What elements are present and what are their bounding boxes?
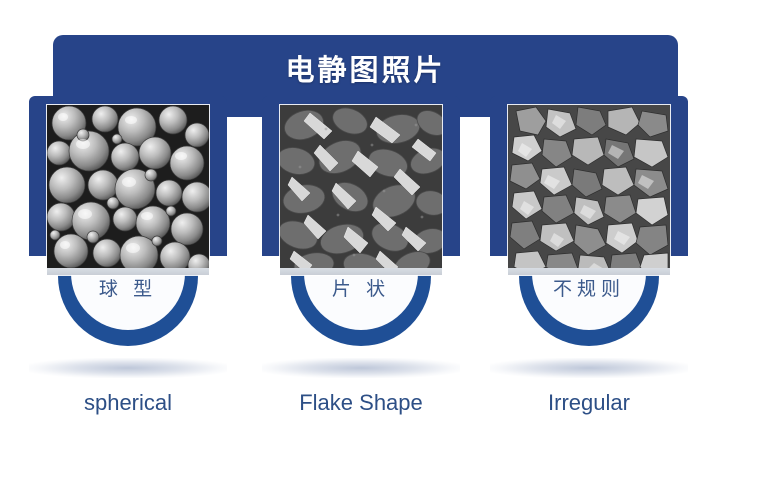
sem-image-flake — [280, 105, 442, 275]
panel-shadow — [29, 358, 227, 378]
sem-irregular-icon — [508, 105, 670, 275]
sem-image-spherical — [47, 105, 209, 275]
sem-flake-icon — [280, 105, 442, 275]
cn-label-spherical: 球 型 — [29, 274, 227, 301]
en-label-spherical: spherical — [13, 390, 243, 416]
panel-shadow — [490, 358, 688, 378]
en-label-flake: Flake Shape — [246, 390, 476, 416]
sem-image-irregular — [508, 105, 670, 275]
infographic-stage: 电静图照片 — [0, 0, 774, 480]
cn-label-flake: 片 状 — [262, 274, 460, 301]
banner-title: 电静图照片 — [53, 35, 678, 100]
morphology-card-irregular[interactable]: 不规则 — [490, 96, 688, 346]
cn-label-irregular: 不规则 — [490, 274, 688, 301]
en-label-irregular: Irregular — [474, 390, 704, 416]
morphology-card-flake[interactable]: 片 状 — [262, 96, 460, 346]
panel-shadow — [262, 358, 460, 378]
sem-spherical-icon — [47, 105, 209, 275]
morphology-card-spherical[interactable]: 球 型 — [29, 96, 227, 346]
title-banner: 电静图照片 — [53, 35, 678, 100]
